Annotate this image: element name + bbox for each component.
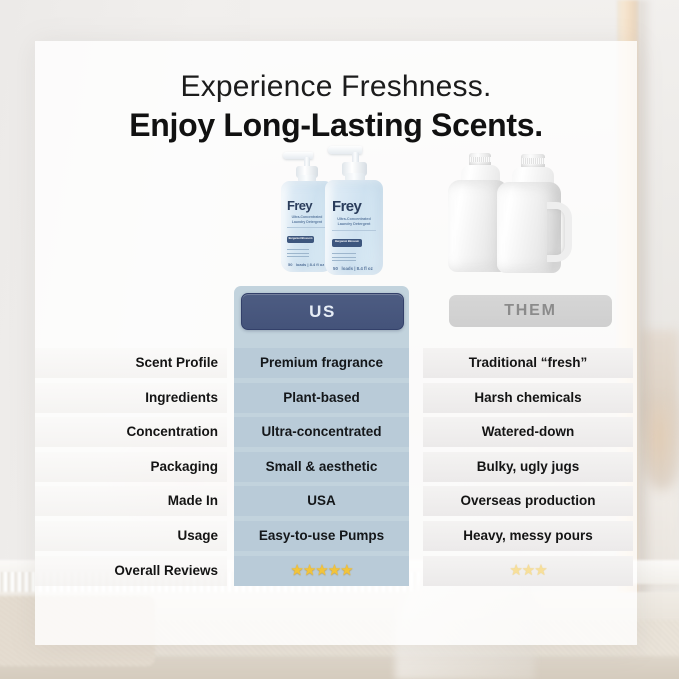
- row-value-them: Heavy, messy pours: [423, 521, 633, 551]
- star-icon: ★: [509, 562, 521, 579]
- row-value-us: Premium fragrance: [234, 348, 409, 378]
- frey-logo-front: Frey: [332, 198, 361, 215]
- column-header-them-label: THEM: [449, 295, 612, 327]
- frey-volume-back: 50 loads | 8.4 fl oz: [288, 262, 324, 267]
- row-value-us: USA: [234, 486, 409, 516]
- star-icon: ★: [290, 562, 302, 579]
- table-row: ConcentrationUltra-concentratedWatered-d…: [35, 417, 637, 447]
- row-label: Packaging: [150, 452, 218, 482]
- frey-logo-back: Frey: [287, 198, 312, 213]
- frey-detail-lines-back: [287, 249, 309, 260]
- jug-handle: [547, 202, 572, 262]
- frey-volume-front: 50 loads | 8.4 fl oz: [333, 266, 373, 271]
- table-row: PackagingSmall & aestheticBulky, ugly ju…: [35, 452, 637, 482]
- frey-scent-chip-front: Bergamot Blossom: [332, 239, 362, 247]
- star-icon: ★: [522, 562, 534, 579]
- rating-stars-them: ★★★: [423, 556, 633, 586]
- row-label: Scent Profile: [135, 348, 218, 378]
- jug-cap-ribbing: [521, 158, 545, 164]
- table-row: Overall Reviews★★★★★★★★: [35, 556, 637, 586]
- column-header-us-label: US: [242, 294, 403, 329]
- row-value-us: Easy-to-use Pumps: [234, 521, 409, 551]
- comparison-infographic: Experience Freshness. Enjoy Long-Lasting…: [0, 0, 679, 679]
- row-value-us: Plant-based: [234, 383, 409, 413]
- row-label: Ingredients: [145, 383, 218, 413]
- row-value-them: Harsh chemicals: [423, 383, 633, 413]
- row-value-them: Overseas production: [423, 486, 633, 516]
- product-image-row: Frey Ultra-ConcentratedLaundry Detergent…: [35, 140, 637, 290]
- table-row: UsageEasy-to-use PumpsHeavy, messy pours: [35, 521, 637, 551]
- frey-subtitle-front: Ultra-ConcentratedLaundry Detergent: [331, 217, 377, 227]
- column-header-us: US: [241, 293, 404, 330]
- row-label: Concentration: [126, 417, 218, 447]
- table-row: Made InUSAOverseas production: [35, 486, 637, 516]
- star-icon: ★: [534, 562, 546, 579]
- row-value-us: Small & aesthetic: [234, 452, 409, 482]
- row-value-them: Traditional “fresh”: [423, 348, 633, 378]
- star-icon: ★: [303, 562, 315, 579]
- table-row: Scent ProfilePremium fragranceTraditiona…: [35, 348, 637, 378]
- star-icon: ★: [315, 562, 327, 579]
- column-header-them: THEM: [449, 295, 612, 327]
- row-label: Made In: [168, 486, 218, 516]
- headline-line-1: Experience Freshness.: [35, 70, 637, 104]
- star-icon: ★: [328, 562, 340, 579]
- row-value-us: Ultra-concentrated: [234, 417, 409, 447]
- row-label: Usage: [177, 521, 218, 551]
- row-value-them: Bulky, ugly jugs: [423, 452, 633, 482]
- rating-stars-us: ★★★★★: [234, 556, 409, 586]
- jug-cap-ribbing: [469, 157, 491, 162]
- frey-subtitle-back: Ultra-ConcentratedLaundry Detergent: [286, 215, 328, 224]
- frey-detail-lines-front: [332, 253, 356, 264]
- frey-rule-front: [332, 230, 376, 231]
- row-value-them: Watered-down: [423, 417, 633, 447]
- bottle-body: Frey Ultra-ConcentratedLaundry Detergent…: [325, 180, 383, 275]
- frey-rule-back: [287, 227, 327, 228]
- headline-line-2: Enjoy Long-Lasting Scents.: [35, 106, 637, 145]
- headline-block: Experience Freshness. Enjoy Long-Lasting…: [35, 70, 637, 145]
- star-icon: ★: [340, 562, 352, 579]
- table-row: IngredientsPlant-basedHarsh chemicals: [35, 383, 637, 413]
- frey-scent-chip-back: Bergamot Blossom: [287, 236, 314, 243]
- row-label: Overall Reviews: [114, 556, 218, 586]
